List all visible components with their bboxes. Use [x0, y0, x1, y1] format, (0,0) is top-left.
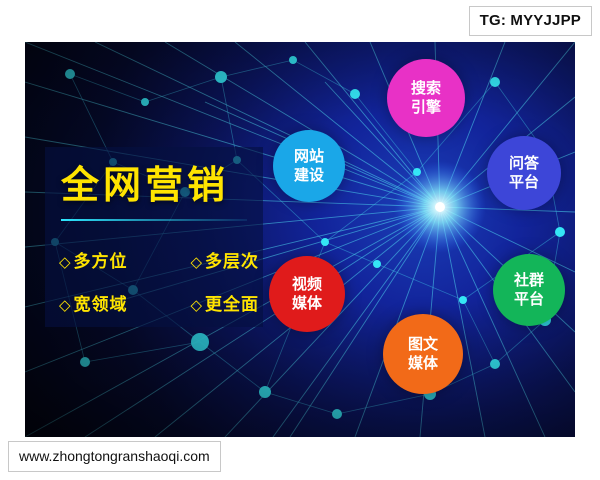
bubble-graphic-media-line2: 媒体 [408, 354, 438, 373]
headline-panel: 全网营销 ◇多方位 ◇多层次 ◇宽领域 ◇更全面 [45, 147, 263, 327]
diamond-icon: ◇ [59, 296, 72, 314]
sub-item-1-label: 多层次 [205, 252, 259, 272]
sub-item-0: ◇多方位 [59, 247, 128, 272]
sub-item-2-label: 宽领域 [74, 295, 128, 315]
bubble-qa-platform-line1: 问答 [509, 154, 539, 173]
bubble-search-engine: 搜索 引擎 [387, 59, 465, 137]
sub-item-1: ◇多层次 [190, 247, 259, 272]
bubble-video-media-line2: 媒体 [292, 294, 322, 313]
diamond-icon: ◇ [190, 296, 203, 314]
network-hub-core [435, 202, 445, 212]
sub-item-3: ◇更全面 [190, 290, 259, 315]
bubble-graphic-media: 图文 媒体 [383, 314, 463, 394]
diamond-icon: ◇ [190, 253, 203, 271]
bubble-video-media: 视频 媒体 [269, 256, 345, 332]
sub-row-1: ◇多方位 ◇多层次 [59, 247, 259, 272]
diamond-icon: ◇ [59, 253, 72, 271]
bubble-qa-platform: 问答 平台 [487, 136, 561, 210]
headline-divider [61, 219, 247, 221]
bubble-website-construction: 网站 建设 [273, 130, 345, 202]
headline-title: 全网营销 [61, 163, 251, 207]
tg-tag: TG: MYYJJPP [469, 6, 592, 36]
bubble-website-construction-line2: 建设 [294, 166, 324, 185]
bubble-search-engine-line1: 搜索 [411, 79, 441, 98]
sub-row-2: ◇宽领域 ◇更全面 [59, 290, 259, 315]
bubble-video-media-line1: 视频 [292, 275, 322, 294]
sub-item-0-label: 多方位 [74, 252, 128, 272]
website-url-label: www.zhongtongranshaoqi.com [8, 441, 221, 472]
marketing-poster: 全网营销 ◇多方位 ◇多层次 ◇宽领域 ◇更全面 搜索 引擎 网站 建设 问答 [25, 42, 575, 437]
bubble-graphic-media-line1: 图文 [408, 335, 438, 354]
bubble-search-engine-line2: 引擎 [411, 98, 441, 117]
bubble-website-construction-line1: 网站 [294, 147, 324, 166]
bubble-community-platform-line2: 平台 [514, 290, 544, 309]
sub-item-3-label: 更全面 [205, 295, 259, 315]
bubble-qa-platform-line2: 平台 [509, 173, 539, 192]
bubble-community-platform: 社群 平台 [493, 254, 565, 326]
bubble-community-platform-line1: 社群 [514, 271, 544, 290]
sub-item-2: ◇宽领域 [59, 290, 128, 315]
